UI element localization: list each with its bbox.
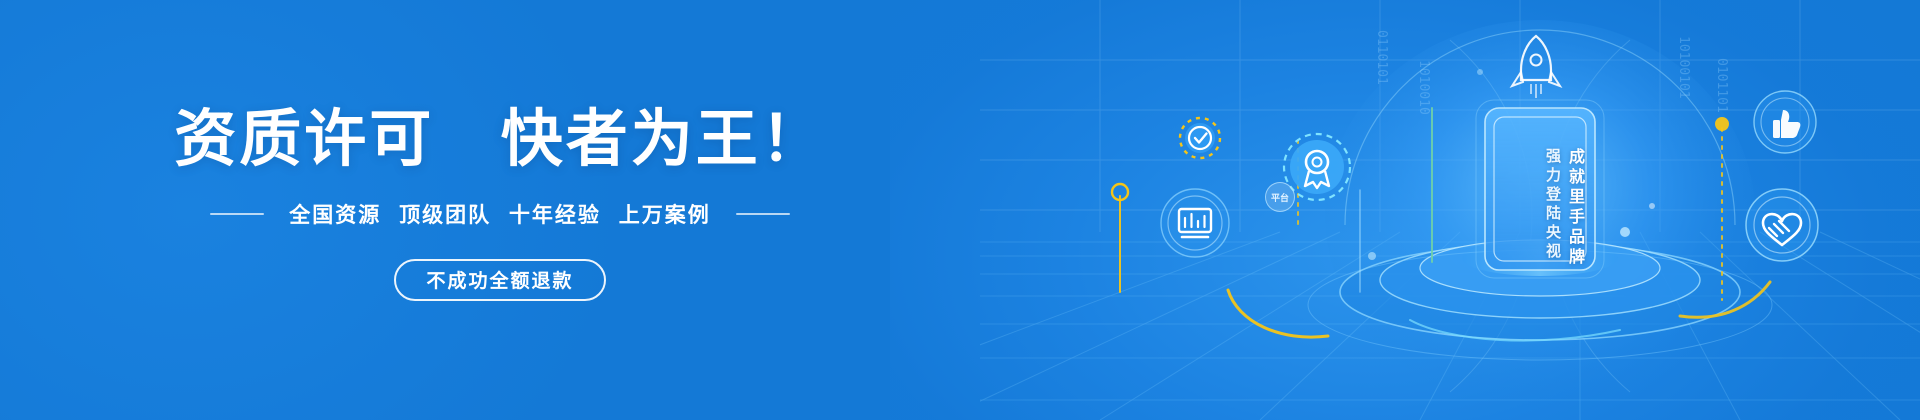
rule-left	[210, 213, 264, 215]
subtitle-item-0: 全国资源	[289, 204, 381, 227]
subtitle: 全国资源 顶级团队 十年经验 上万案例	[284, 199, 716, 229]
subtitle-item-1: 顶级团队	[399, 204, 491, 227]
refund-guarantee-button[interactable]: 不成功全额退款	[394, 259, 605, 301]
subtitle-row: 全国资源 顶级团队 十年经验 上万案例	[210, 199, 790, 229]
promo-banner: 资质许可 快者为王！ 全国资源 顶级团队 十年经验 上万案例 不成功全额退款	[0, 0, 1920, 420]
subtitle-item-3: 上万案例	[619, 204, 711, 227]
subtitle-item-2: 十年经验	[509, 204, 601, 227]
headline-part-right: 快者为王！	[501, 105, 826, 174]
page-title: 资质许可 快者为王！	[174, 107, 826, 173]
rule-right	[736, 213, 790, 215]
banner-copy-block: 资质许可 快者为王！ 全国资源 顶级团队 十年经验 上万案例 不成功全额退款	[0, 0, 1000, 420]
headline-part-left: 资质许可	[174, 105, 434, 174]
